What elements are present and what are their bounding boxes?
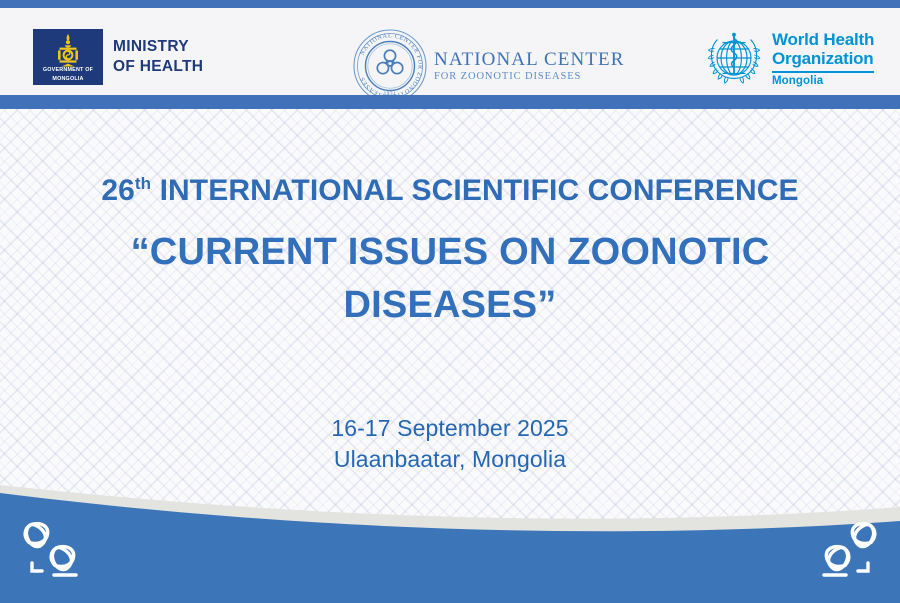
conference-theme: “CURRENT ISSUES ON ZOONOTIC DISEASES” <box>0 226 900 332</box>
top-accent-bar <box>0 0 900 8</box>
event-date: 16-17 September 2025 <box>0 413 900 444</box>
soyombo-emblem-icon <box>51 33 85 71</box>
conference-label: INTERNATIONAL SCIENTIFIC CONFERENCE <box>151 174 799 207</box>
who-name-line2: Organization <box>772 50 874 69</box>
nczd-seal-icon: NATIONAL CENTER FOR ZOONOTIC DISEASES 19… <box>352 28 428 104</box>
crest-government-label: GOVERNMENT OF <box>33 67 103 74</box>
header-accent-bar <box>0 95 900 109</box>
conference-number: 26 <box>101 174 135 207</box>
conference-ordinal: th <box>135 174 151 193</box>
mongolia-government-crest-icon: GOVERNMENT OF MONGOLIA <box>33 29 103 85</box>
who-name-line1: World Health <box>772 31 874 50</box>
nczd-name-line1: NATIONAL CENTER <box>434 49 624 70</box>
national-center-zoonotic-diseases-logo: NATIONAL CENTER FOR ZOONOTIC DISEASES 19… <box>352 28 624 104</box>
who-country-label: Mongolia <box>772 75 874 87</box>
ministry-name-line2: OF HEALTH <box>113 57 203 77</box>
conference-line: 26th INTERNATIONAL SCIENTIFIC CONFERENCE <box>0 172 900 210</box>
who-name: World Health Organization Mongolia <box>772 29 874 87</box>
crest-country-label: MONGOLIA <box>33 76 103 82</box>
who-divider <box>772 71 874 73</box>
ministry-name: MINISTRY OF HEALTH <box>113 37 203 77</box>
triquetra-knot-icon-left <box>16 513 96 585</box>
bottom-wave-decoration <box>0 463 900 603</box>
nczd-name: NATIONAL CENTER FOR ZOONOTIC DISEASES <box>434 49 624 83</box>
triquetra-knot-icon-right <box>804 513 884 585</box>
ministry-of-health-logo: GOVERNMENT OF MONGOLIA MINISTRY OF HEALT… <box>33 29 203 85</box>
header-logo-band: GOVERNMENT OF MONGOLIA MINISTRY OF HEALT… <box>0 8 900 95</box>
wave-blue-layer <box>0 493 900 603</box>
who-mongolia-logo: World Health Organization Mongolia <box>703 29 874 91</box>
nczd-name-line2: FOR ZOONOTIC DISEASES <box>434 70 624 83</box>
conference-title-slide: GOVERNMENT OF MONGOLIA MINISTRY OF HEALT… <box>0 0 900 603</box>
who-emblem-icon <box>703 29 765 91</box>
ministry-name-line1: MINISTRY <box>113 37 203 57</box>
headline-block: 26th INTERNATIONAL SCIENTIFIC CONFERENCE… <box>0 172 900 332</box>
